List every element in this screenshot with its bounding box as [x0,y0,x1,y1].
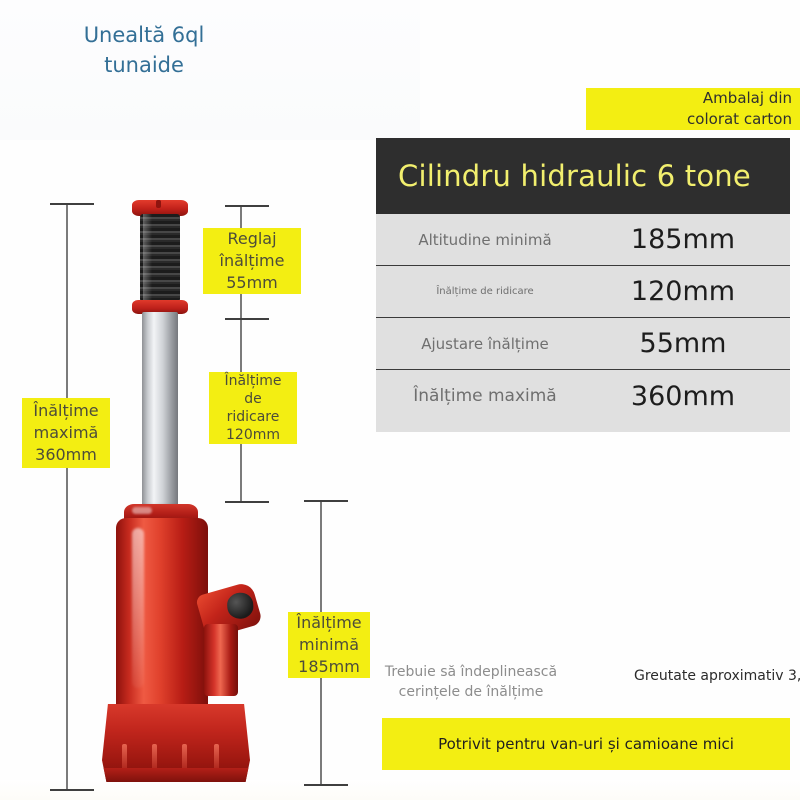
dimension-tick [304,500,348,502]
callout-line: Înălțime [209,372,297,390]
spec-panel: Cilindru hidraulic 6 tone Altitudine min… [376,138,790,432]
caption-weight: Greutate aproximativ 3,5kg [634,668,800,684]
spec-panel-title: Cilindru hidraulic 6 tone [398,159,751,193]
dimension-tick [304,784,348,786]
table-row: Altitudine minimă 185mm [376,214,790,266]
callout-line: minimă [288,634,370,656]
table-row: Înălțime maximă 360mm [376,370,790,422]
table-row: Ajustare înălțime 55mm [376,318,790,370]
callout-max-height: Înălțime maximă 360mm [22,398,110,468]
spec-value: 120mm [594,276,772,307]
caption-height-requirement: Trebuie să îndeplinească cerințele de în… [380,662,562,702]
spec-value: 55mm [594,328,772,359]
callout-lift-height: Înălțime de ridicare 120mm [209,372,297,444]
page-title: Unealtă 6ql tunaide [46,20,242,80]
caption-line: cerințele de înălțime [380,682,562,702]
callout-line: 120mm [209,426,297,444]
spec-label: Înălțime de ridicare [376,286,594,297]
packaging-note-line1: Ambalaj din [703,88,792,109]
dimension-tick [50,203,94,205]
dimension-tick [225,318,269,320]
dimension-tick [50,789,94,791]
callout-line: 55mm [203,272,301,294]
spec-value: 360mm [594,381,772,412]
callout-line: 360mm [22,444,110,466]
packaging-note-line2: colorat carton [687,109,792,130]
callout-line: Reglaj [203,228,301,250]
spec-label: Altitudine minimă [376,231,594,249]
jack-base [102,704,250,782]
jack-socket-neck [204,624,238,696]
spec-panel-header: Cilindru hidraulic 6 tone [376,138,790,214]
dimension-line-max-height [66,203,68,791]
callout-line: Înălțime [22,400,110,422]
table-row: Înălțime de ridicare 120mm [376,266,790,318]
spec-label: Ajustare înălțime [376,335,594,353]
jack-chrome-ram [142,312,178,512]
jack-cylinder-body: COLMAN 6 TON TYN06 [116,518,208,714]
caption-line: Trebuie să îndeplinească [380,662,562,682]
suitability-banner: Potrivit pentru van-uri și camioane mici [382,718,790,770]
jack-extension-screw [140,214,180,302]
callout-line: de [209,390,297,408]
callout-line: Înălțime [288,612,370,634]
dimension-tick [225,501,269,503]
spec-value: 185mm [594,224,772,255]
callout-adjust-height: Reglaj înălțime 55mm [203,228,301,294]
base-plate [102,768,250,782]
callout-line: înălțime [203,250,301,272]
packaging-note: Ambalaj din colorat carton [586,88,800,130]
dimension-tick [225,205,269,207]
spec-table: Altitudine minimă 185mm Înălțime de ridi… [376,214,790,432]
callout-line: ridicare [209,408,297,426]
callout-line: maximă [22,422,110,444]
callout-min-height: Înălțime minimă 185mm [288,612,370,678]
infographic-page: Unealtă 6ql tunaide Ambalaj din colorat … [0,0,800,800]
callout-line: 185mm [288,656,370,678]
spec-label: Înălțime maximă [376,386,594,406]
